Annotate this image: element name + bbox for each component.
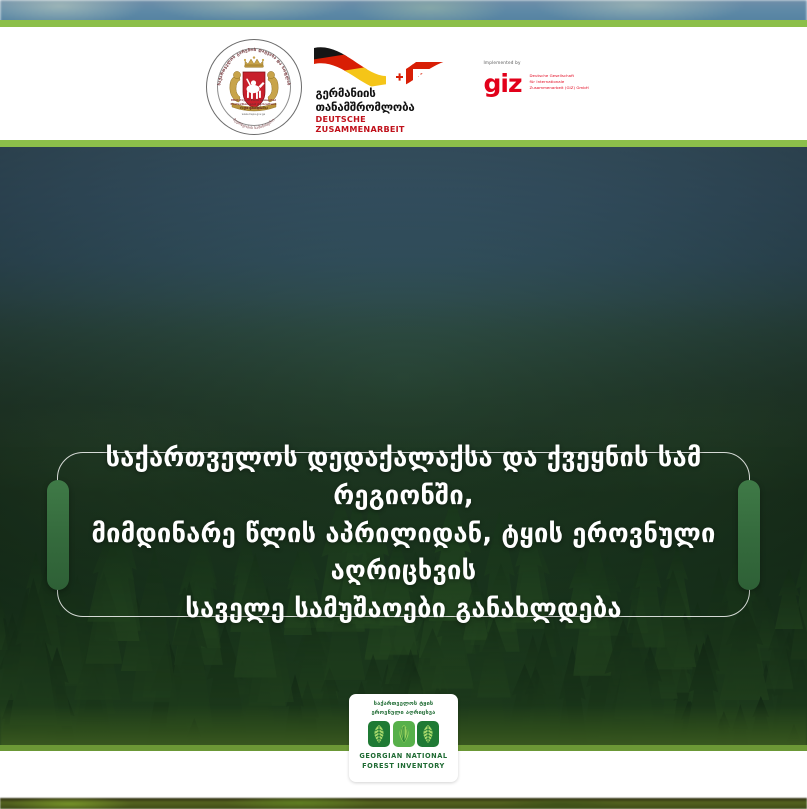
svg-text:მეურნეობის სამინისტრო: მეურნეობის სამინისტრო <box>232 118 275 130</box>
gnfi-title-en-line2: FOREST INVENTORY <box>359 762 447 771</box>
german-georgian-flag-ribbon <box>312 42 454 90</box>
german-cooperation-ka-line1: გერმანიის <box>316 86 426 100</box>
giz-subtitle: Deutsche Gesellschaft für Internationale… <box>530 73 592 91</box>
accent-bar-right <box>738 480 760 590</box>
gnfi-title-ka-line2: ეროვნული აღრიცხვა <box>354 709 454 718</box>
hero-title: საქართველოს დედაქალაქსა და ქვეყნის სამ რ… <box>74 440 734 629</box>
giz-logo: Implemented by giz Deutsche Gesellschaft… <box>482 57 592 117</box>
leaf-icon <box>393 721 415 747</box>
gnfi-title-en-line1: GEORGIAN NATIONAL <box>359 752 447 761</box>
hero-banner: საქართველოს დედაქალაქსა და ქვეყნის სამ რ… <box>0 147 807 751</box>
ministry-coat-of-arms-seal: საქართველოს გარემოს დაცვისა და სოფლის მე… <box>206 39 302 135</box>
seal-artwork: საქართველოს გარემოს დაცვისა და სოფლის მე… <box>206 39 302 135</box>
accent-bar-left <box>47 480 69 590</box>
german-cooperation-title-de: DEUTSCHE ZUSAMMENARBEIT <box>316 114 446 134</box>
gnfi-leaf-group <box>368 721 439 747</box>
gnfi-title-en: GEORGIAN NATIONAL FOREST INVENTORY <box>359 752 447 770</box>
bottom-image-strip <box>0 798 807 809</box>
giz-supported-by-label: Implemented by <box>484 60 521 65</box>
gnfi-title-ka-line1: საქართველოს ტყის <box>354 700 454 709</box>
gnfi-logo-card: საქართველოს ტყის ეროვნული აღრიცხვა GEORG… <box>349 694 458 782</box>
leaf-icon <box>368 721 390 747</box>
leaf-icon <box>417 721 439 747</box>
giz-wordmark: giz <box>484 71 522 96</box>
german-cooperation-title-ka: გერმანიის თანამშრომლობა <box>316 86 426 114</box>
header-bottom-green-divider <box>0 140 807 147</box>
hero-title-card: საქართველოს დედაქალაქსა და ქვეყნის სამ რ… <box>57 452 750 617</box>
partner-logo-header: საქართველოს გარემოს დაცვისა და სოფლის მე… <box>0 27 807 147</box>
seal-caption-line3: of Georgia <box>206 107 302 111</box>
hero-title-line2: მიმდინარე წლის აპრილიდან, ტყის ეროვნული … <box>74 516 734 591</box>
seal-caption: Ministry of Environmental Protection and… <box>206 99 302 116</box>
german-cooperation-logo: გერმანიის თანამშრომლობა DEUTSCHE ZUSAMME… <box>312 42 454 132</box>
hero-title-line1: საქართველოს დედაქალაქსა და ქვეყნის სამ რ… <box>74 440 734 515</box>
top-green-divider <box>0 20 807 27</box>
gnfi-title-ka: საქართველოს ტყის ეროვნული აღრიცხვა <box>354 700 454 717</box>
hero-title-line3: საველე სამუშაოები განახლდება <box>74 591 734 629</box>
german-cooperation-ka-line2: თანამშრომლობა <box>316 100 426 114</box>
giz-subtitle-line3: Zusammenarbeit (GIZ) GmbH <box>530 85 592 91</box>
seal-caption-url: www.mepa.gov.ge <box>206 113 302 116</box>
